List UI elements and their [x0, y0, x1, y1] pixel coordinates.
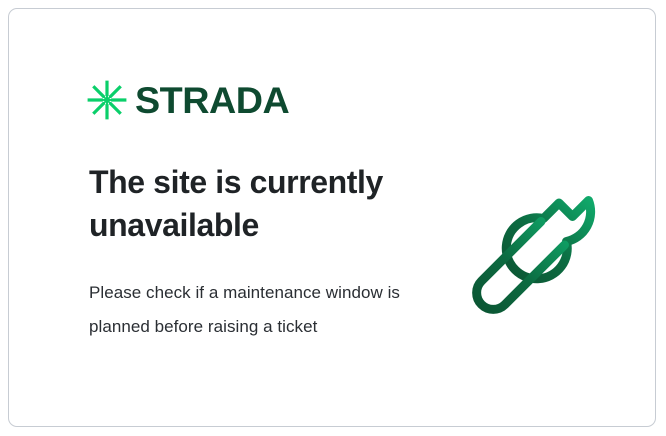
- brand-logo: STRADA: [87, 80, 286, 120]
- wrench-icon: [467, 165, 617, 315]
- wrench-illustration: [467, 165, 617, 315]
- status-card: STRADA The site is currently unavailable…: [8, 8, 656, 427]
- brand-wordmark: STRADA: [135, 82, 289, 119]
- strada-asterisk-mark-icon: [87, 80, 127, 120]
- page-root: STRADA The site is currently unavailable…: [0, 0, 666, 436]
- page-title: The site is currently unavailable: [89, 161, 419, 247]
- page-description: Please check if a maintenance window is …: [89, 276, 409, 344]
